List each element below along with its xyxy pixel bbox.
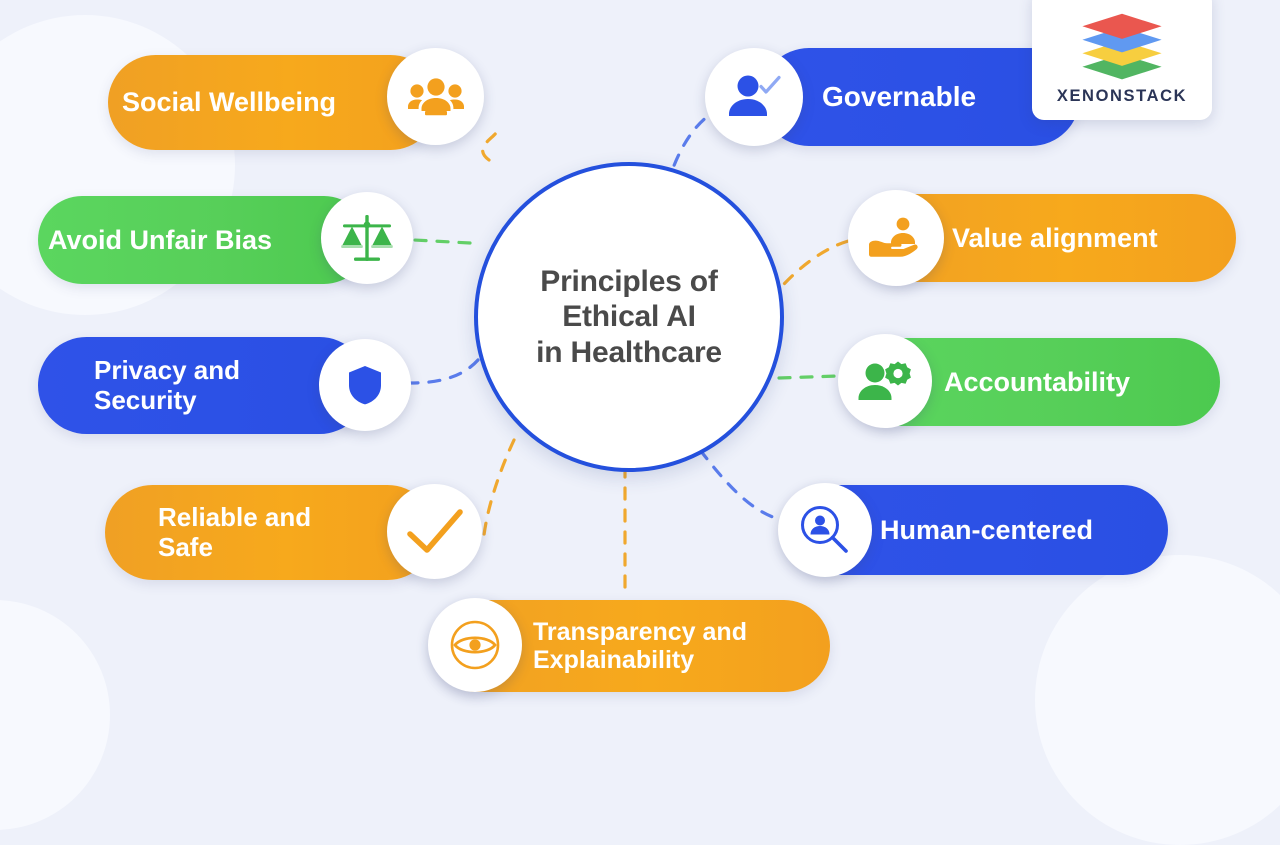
person-check-icon xyxy=(705,48,803,146)
node-label-reliable-and-safe: Reliable and Safe xyxy=(158,503,311,562)
connector-reliable-and-safe xyxy=(484,440,514,535)
node-reliable-and-safe[interactable]: Reliable and Safe xyxy=(105,485,435,580)
brand-logo-card[interactable]: XENONSTACK xyxy=(1032,0,1212,120)
connector-human-centered xyxy=(700,450,782,520)
infographic-canvas: Principles of Ethical AI in Healthcare S… xyxy=(0,0,1280,720)
node-avoid-unfair-bias[interactable]: Avoid Unfair Bias xyxy=(38,196,368,284)
node-label-privacy-and-security: Privacy and Security xyxy=(94,356,240,415)
connector-social-wellbeing xyxy=(483,128,498,160)
node-label-value-alignment: Value alignment xyxy=(952,223,1158,254)
group-people-icon xyxy=(387,48,484,145)
person-search-icon xyxy=(778,483,872,577)
connector-avoid-unfair-bias xyxy=(414,240,470,243)
node-label-avoid-unfair-bias: Avoid Unfair Bias xyxy=(48,225,272,256)
eye-circle-icon xyxy=(428,598,522,692)
node-label-transparency-and-explainability: Transparency and Explainability xyxy=(533,618,747,675)
shield-icon xyxy=(319,339,411,431)
balance-scale-icon xyxy=(321,192,413,284)
node-label-accountability: Accountability xyxy=(944,367,1130,398)
checkmark-icon xyxy=(387,484,482,579)
node-label-human-centered: Human-centered xyxy=(880,515,1093,546)
hand-holding-person-icon xyxy=(848,190,944,286)
node-label-governable: Governable xyxy=(822,81,976,113)
connector-accountability xyxy=(779,376,838,378)
connector-privacy-and-security xyxy=(410,360,478,383)
page-title: Principles of Ethical AI in Healthcare xyxy=(536,264,722,369)
node-label-social-wellbeing: Social Wellbeing xyxy=(122,87,336,118)
stacked-layers-icon xyxy=(1070,11,1174,83)
connector-value-alignment xyxy=(770,240,852,300)
brand-name: XENONSTACK xyxy=(1057,87,1187,106)
person-gear-icon xyxy=(838,334,932,428)
center-hub: Principles of Ethical AI in Healthcare xyxy=(474,162,784,472)
